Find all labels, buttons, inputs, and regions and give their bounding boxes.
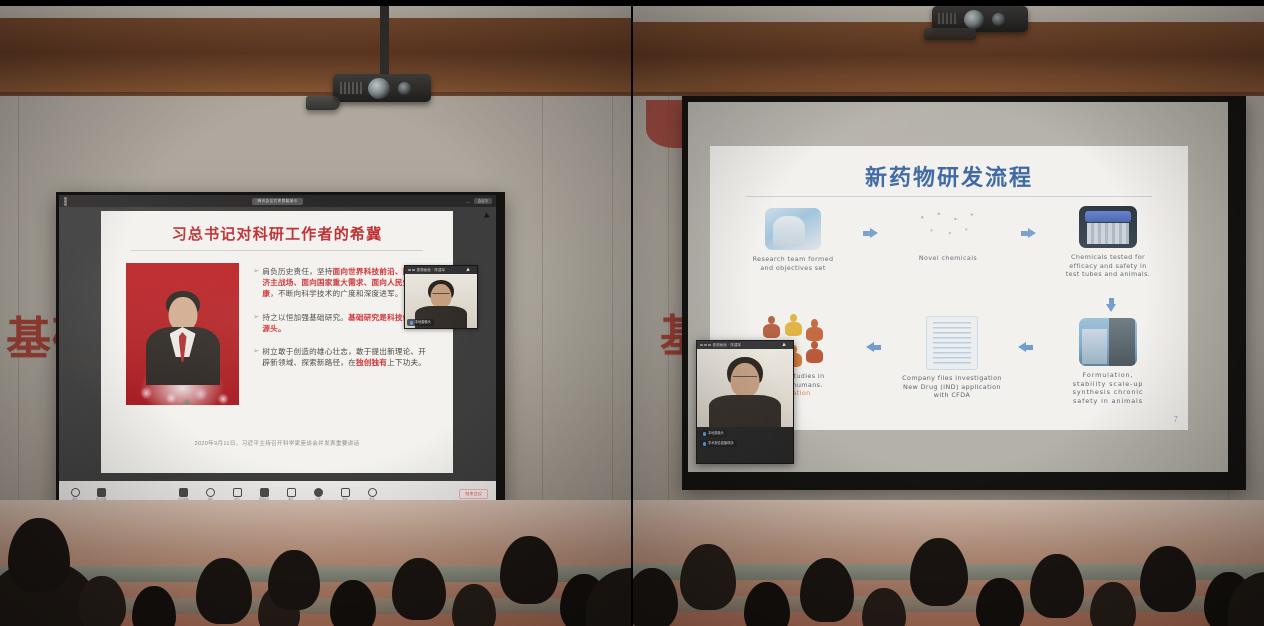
caption-line: Formulation, [1046,371,1170,380]
toolbar-button-video[interactable]: 停止视频 [93,488,109,501]
projector-vent [340,82,362,94]
test-tubes-photo-icon [1079,206,1137,248]
end-meeting-button[interactable]: 结束会议 [459,489,488,499]
toolbar-button-participants[interactable]: 成员 [229,488,245,501]
microphone-icon [703,432,706,436]
chemical-structure-icon [902,204,994,248]
audience-member [800,558,854,622]
arrow-right-icon [870,228,878,238]
audience-member [268,550,320,610]
bullet-marker: ➢ [253,312,259,334]
bullet-text: 树立敢于创造的雄心壮志，敢于提出新理论、开辟新领域、探索新路径，在独创独有上下功… [262,346,431,368]
meeting-status-chip[interactable]: 会议中 [474,198,492,204]
wall-seam [542,96,543,566]
mouse-cursor-icon [466,267,470,272]
toolbar-button-manage-members[interactable]: 管理成员 [256,488,272,501]
person-figure [805,341,824,363]
projector-bracket [924,28,976,40]
toolbar-center-group: 共享屏幕 录制 成员 [175,488,380,501]
audience-member [392,558,446,620]
window-dot[interactable] [708,344,711,347]
participant-glasses [733,376,757,379]
participant-name: 本地摄像头 [415,319,431,326]
slide-photo [126,263,239,405]
projector-secondary-lens [398,82,411,95]
caption-line: efficacy and safety in [1048,262,1168,271]
window-title: 视频画面 · 陈建军 [713,341,742,349]
window-dot[interactable] [700,344,703,347]
projection-screen-frame: 腾讯会议共享屏幕演示 — 会议中 习总书记对科研工作者的希冀 [56,192,505,516]
bullet-marker: ➢ [253,266,259,300]
participant-torso [709,395,781,427]
caption-line: Company files investigation [892,374,1012,383]
slide-title: 新药物研发流程 [710,160,1188,192]
toolbar-button-mute[interactable]: 静音 [67,488,83,501]
slide-title-rule [131,250,423,251]
toolbar-button-share-screen[interactable]: 共享屏幕 [175,488,191,501]
caption-line: Chemicals tested for [1048,253,1168,262]
mouse-cursor-icon [782,342,786,347]
window-titlebar: 视频画面 · 陈建军 [697,341,793,349]
audience-member [680,544,736,610]
participants-icon [233,488,242,497]
toolbar-button-invite[interactable]: 邀请 [337,488,353,501]
titlebar-right-group: — 会议中 [466,198,492,204]
projector-secondary-lens [992,13,1005,26]
microphone-icon [71,488,80,497]
minimize-icon[interactable]: — [466,199,470,204]
projection-screen-surface: 新药物研发流程 Research team formed and objecti… [688,102,1228,472]
list-item: ➢ 树立敢于创造的雄心壮志，敢于提出新理论、开辟新领域、探索新路径，在独创独有上… [253,346,431,368]
projector-bracket [306,96,340,110]
caption-line: test tubes and animals. [1048,270,1168,279]
person-figure [784,314,803,336]
audience-member [1140,546,1196,612]
caption-line: stability scale-up [1046,380,1170,389]
flow-step: Research team formed and objectives set [738,208,848,272]
video-thumbnail-title: 视频画面 · 陈建军 [417,266,446,274]
manage-members-icon [260,488,269,497]
flow-step-caption: Formulation, stability scale-up synthesi… [1046,371,1170,405]
audience-member [1030,554,1084,618]
manufacturing-building-photo-icon [1079,318,1137,366]
window-controls[interactable] [64,197,67,206]
flow-step-caption: Chemicals tested for efficacy and safety… [1048,253,1168,279]
slide-page-number: 7 [1174,415,1178,424]
more-icon [368,488,377,497]
window-title: 腾讯会议共享屏幕演示 [252,198,304,205]
audience-member [500,536,558,604]
caption-line: with CFDA [892,391,1012,400]
settings-icon [314,488,323,497]
toolbar-left-group: 静音 停止视频 [67,488,109,501]
wall-seam [612,96,613,566]
slide-footer-note: 2020年9月11日，习近平主持召开科学家座谈会并发表重要讲话 [101,439,453,447]
projector-lens [368,78,390,99]
video-feed: 本地摄像头 [405,274,477,328]
toolbar-button-settings[interactable]: 设置 [310,488,326,501]
flow-step: Novel chemicals [892,204,1004,263]
microphone-icon [703,442,706,446]
arrow-right-icon [1028,228,1036,238]
left-photo: 基 础 周年 腾讯会议共享屏幕演示 [0,0,632,626]
flow-step: Chemicals tested for efficacy and safety… [1048,206,1168,279]
video-thumbnail[interactable]: 视频画面 · 陈建军 本地摄像头 [404,265,478,329]
right-photo: 基 础 周年 新药物研发流程 Research team formed [632,0,1264,626]
audience-member [910,538,968,606]
window-dot[interactable] [408,269,411,272]
camera-icon [97,488,106,497]
photo-flowers [126,362,239,405]
researcher-photo-icon [765,208,821,250]
toolbar-button-record[interactable]: 录制 [202,488,218,501]
person-figure [805,319,824,341]
participant-glasses [433,293,450,296]
flow-step: Formulation, stability scale-up synthesi… [1046,318,1170,405]
arrow-left-icon [1018,342,1026,352]
participant-name-badge: 本地摄像头 [700,430,727,437]
projection-screen-surface: 腾讯会议共享屏幕演示 — 会议中 习总书记对科研工作者的希冀 [59,195,496,507]
video-thumbnail-titlebar: 视频画面 · 陈建军 [405,266,477,274]
chat-icon [287,488,296,497]
flow-step: Company files investigation New Drug (IN… [892,316,1012,400]
projector-mount-pole [380,0,389,78]
window-titlebar: 腾讯会议共享屏幕演示 — 会议中 [59,195,496,207]
window-dot[interactable] [64,203,67,206]
participant-name: 学术报告直播现场 [708,440,734,447]
microphone-icon [410,321,413,325]
audience-member [196,558,252,624]
application-form-icon [926,316,978,370]
caption-line: synthesis chronic [1046,388,1170,397]
caption-line: New Drug (IND) application [892,383,1012,392]
share-screen-icon [179,488,188,497]
caption-line: Novel chemicals [892,254,1004,263]
bullet-marker: ➢ [253,346,259,368]
projector-lens [964,10,984,29]
flow-step-caption: Novel chemicals [892,254,1004,263]
wall-banner-char: 基 [6,302,53,367]
photo-pair: 基 础 周年 腾讯会议共享屏幕演示 [0,0,1264,626]
wood-beam [0,18,632,96]
window-dot[interactable] [412,269,415,272]
shared-content-stage: 习总书记对科研工作者的希冀 [59,207,496,481]
flow-step-caption: Research team formed and objectives set [738,255,848,272]
projection-screen-frame: 新药物研发流程 Research team formed and objecti… [682,96,1246,490]
caption-line: safety in animals [1046,397,1170,406]
record-icon [206,488,215,497]
video-window-controls[interactable] [408,269,415,272]
arrow-down-icon [1106,304,1116,312]
participant-name-badge: 学术报告直播现场 [700,440,737,447]
arrow-left-icon [866,342,874,352]
participant-name-badge: 本地摄像头 [407,319,434,326]
slide-title: 习总书记对科研工作者的希冀 [101,223,453,244]
participant-face [431,284,452,308]
flow-step-caption: Company files investigation New Drug (IN… [892,374,1012,400]
participant-face [731,363,760,397]
mouse-cursor-icon [484,212,491,219]
toolbar-button-more[interactable]: 更多 [364,488,380,501]
toolbar-button-chat[interactable]: 聊天 [283,488,299,501]
person-figure [762,316,781,338]
meeting-app-window: 腾讯会议共享屏幕演示 — 会议中 习总书记对科研工作者的希冀 [59,195,496,507]
window-controls[interactable] [700,344,711,347]
projector-vent [938,13,958,24]
slide-title-rule [746,196,1152,197]
meeting-window-docked[interactable]: 视频画面 · 陈建军 本地摄像头 学术 [696,340,794,464]
window-dot[interactable] [704,344,707,347]
caption-line: and objectives set [738,264,848,273]
participant-name: 本地摄像头 [708,430,724,437]
invite-icon [341,488,350,497]
presentation-slide: 习总书记对科研工作者的希冀 [101,211,453,473]
photo-subject-head [168,297,197,331]
caption-line: Research team formed [738,255,848,264]
panel-divider [631,0,633,626]
video-feed [697,349,793,427]
